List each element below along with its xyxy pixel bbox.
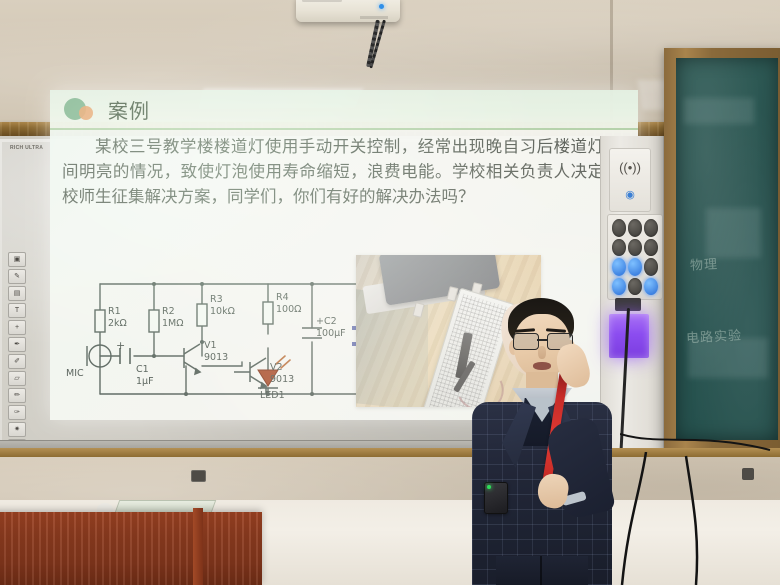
keypad-button[interactable] — [612, 239, 626, 257]
classroom-scene: RICH ULTRA ▣ ✎ ▤ T + ✒ ✐ ▱ ✏ ✑ ✷ ↩ ⌨ │ ▬… — [0, 0, 780, 585]
chalk-smudge — [706, 208, 761, 258]
wifi-icon: ((•)) — [619, 160, 641, 175]
wall-outlet[interactable] — [191, 470, 206, 482]
text-tool-icon[interactable]: T — [8, 303, 26, 318]
marker-tool-icon[interactable]: ✐ — [8, 354, 26, 369]
ac-brand-strip — [360, 16, 388, 19]
presenter — [466, 298, 616, 585]
whiteboard-toolbar[interactable]: ▣ ✎ ▤ T + ✒ ✐ ▱ ✏ ✑ ✷ ↩ ⌨ │ ▬ ▧ ⇲ ▭ — [6, 252, 28, 441]
c1-ref-label: C1 — [136, 364, 149, 375]
slide-header: 案例 — [50, 90, 638, 130]
shape-tool-icon[interactable]: + — [8, 320, 26, 335]
air-conditioner-unit — [296, 0, 400, 22]
chalk-smudge — [684, 98, 754, 124]
v2-ref-label: V2 — [270, 362, 283, 373]
led1-label: LED1 — [260, 390, 285, 401]
r3-ref-label: R3 — [210, 294, 223, 305]
annotate-tool-icon[interactable]: ✎ — [8, 269, 26, 284]
keypad-button-active[interactable] — [644, 278, 658, 296]
r3-value-label: 10kΩ — [210, 306, 235, 317]
c2-ref-label: +C2 — [316, 316, 337, 327]
glasses-bridge — [537, 339, 547, 341]
pen-tool-icon[interactable]: ✒ — [8, 337, 26, 352]
keypad-button-active[interactable] — [612, 258, 626, 276]
ceiling-cable — [620, 430, 780, 480]
keypad-button[interactable] — [628, 278, 642, 296]
presenter-nose — [538, 346, 546, 359]
keypad-button[interactable] — [628, 239, 642, 257]
presenter-trousers — [496, 556, 588, 585]
highlighter-tool-icon[interactable]: ✏ — [8, 388, 26, 403]
c1-polarity-icon: + — [116, 340, 125, 351]
keypad-button-active[interactable] — [612, 278, 626, 296]
r1-value-label: 2kΩ — [108, 318, 127, 329]
ac-vent-icon — [302, 0, 342, 2]
keypad-button[interactable] — [644, 258, 658, 276]
slide-bullet-decoration — [64, 96, 98, 122]
blackboard-left: 物理 电路实验 — [664, 48, 780, 452]
keypad-button[interactable] — [612, 219, 626, 237]
podium-edge — [193, 508, 203, 585]
r2-ref-label: R2 — [162, 306, 175, 317]
chalkboard-writing: 物理 — [690, 253, 719, 273]
trouser-seam — [540, 556, 542, 585]
chalkboard-writing: 电路实验 — [686, 325, 743, 347]
keypad-button[interactable] — [644, 219, 658, 237]
keypad-button-active[interactable] — [628, 258, 642, 276]
eraser-tool-icon[interactable]: ▱ — [8, 371, 26, 386]
mic-status-led — [487, 485, 491, 489]
v1-value-label: 9013 — [204, 352, 228, 363]
glasses-lens — [513, 333, 539, 350]
c2-value-label: 100µF — [316, 328, 346, 339]
wooden-podium — [0, 512, 262, 585]
c1-value-label: 1µF — [136, 376, 154, 387]
r1-ref-label: R1 — [108, 306, 121, 317]
page-tool-icon[interactable]: ▤ — [8, 286, 26, 301]
slide-title: 案例 — [108, 95, 150, 124]
lighting-keypad[interactable] — [607, 214, 663, 300]
r4-ref-label: R4 — [276, 292, 289, 303]
ac-status-led — [379, 4, 384, 9]
sensor-icon: ◉ — [625, 188, 635, 201]
v1-ref-label: V1 — [204, 340, 217, 351]
orange-circle-icon — [79, 106, 93, 120]
blackboard-surface: 物理 电路实验 — [676, 58, 778, 440]
circuit-schematic: R1 2kΩ R2 1MΩ R3 10kΩ R4 100Ω V1 9013 V2… — [64, 270, 394, 408]
keypad-button[interactable] — [644, 239, 658, 257]
select-tool-icon[interactable]: ▣ — [8, 252, 26, 267]
r4-value-label: 100Ω — [276, 304, 301, 315]
board-brand-label: RICH ULTRA — [10, 145, 43, 151]
slide-body-text: 某校三号教学楼楼道灯使用手动开关控制，经常出现晚自习后楼道灯长时间明亮的情况，致… — [56, 134, 638, 209]
v2-value-label: 9013 — [270, 374, 294, 385]
spotlight-tool-icon[interactable]: ✷ — [8, 422, 26, 437]
r2-value-label: 1MΩ — [162, 318, 184, 329]
keypad-button[interactable] — [628, 219, 642, 237]
brush-tool-icon[interactable]: ✑ — [8, 405, 26, 420]
wifi-access-point[interactable]: ((•)) ◉ — [609, 148, 651, 212]
presenter-mouth — [533, 362, 551, 370]
mic-label: MIC — [66, 368, 84, 379]
